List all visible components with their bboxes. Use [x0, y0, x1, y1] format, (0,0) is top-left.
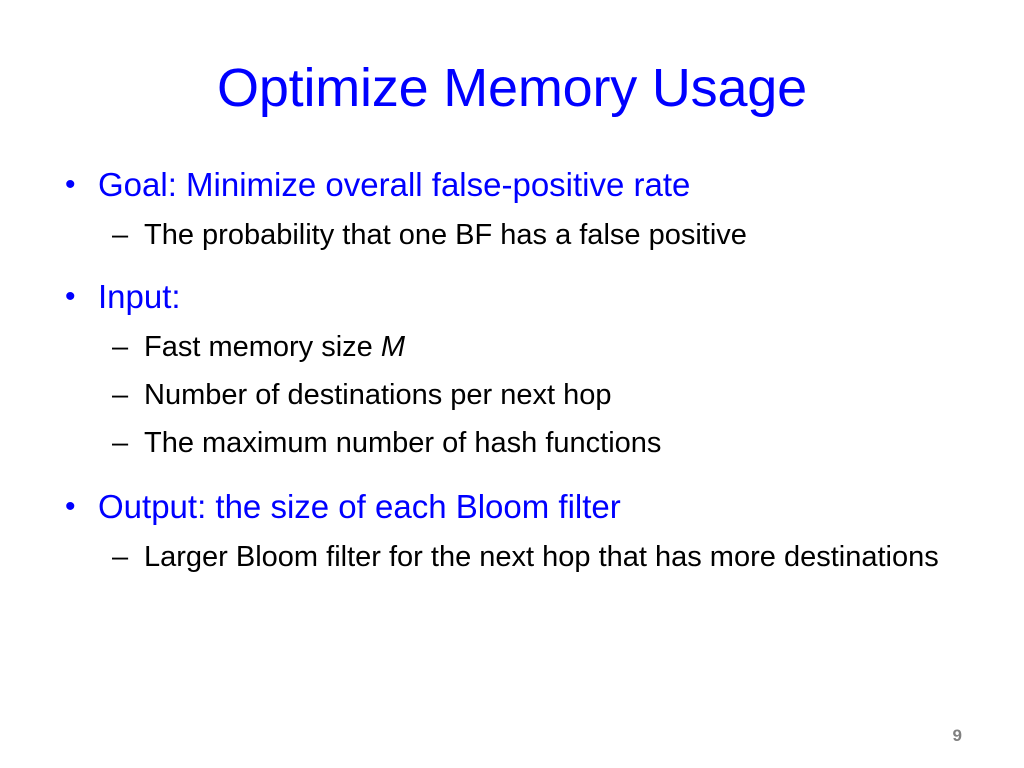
subbullet-fast-memory-size-label: Fast memory size [144, 331, 381, 363]
subbullet-probability: – The probability that one BF has a fals… [60, 213, 970, 257]
slide-body: • Goal: Minimize overall false-positive … [60, 163, 970, 583]
dash-icon: – [112, 373, 138, 417]
bullet-input: • Input: [60, 275, 970, 319]
bullet-goal-label: Goal: Minimize overall false-positive ra… [98, 166, 690, 203]
slide: Optimize Memory Usage • Goal: Minimize o… [0, 0, 1024, 768]
bullet-dot-icon: • [65, 275, 85, 319]
subbullet-larger-bloom-filter: – Larger Bloom filter for the next hop t… [60, 535, 970, 579]
bullet-goal: • Goal: Minimize overall false-positive … [60, 163, 970, 207]
page-title: Optimize Memory Usage [0, 56, 1024, 120]
bullet-dot-icon: • [65, 163, 85, 207]
page-number: 9 [953, 726, 962, 746]
dash-icon: – [112, 325, 138, 369]
subbullet-destinations-per-hop-label: Number of destinations per next hop [144, 379, 612, 411]
spacer [60, 469, 970, 485]
variable-m: M [381, 331, 405, 363]
subbullet-larger-bloom-filter-label: Larger Bloom filter for the next hop tha… [144, 541, 939, 573]
dash-icon: – [112, 213, 138, 257]
subbullet-fast-memory-size: – Fast memory size M [60, 325, 970, 369]
subbullet-max-hash-functions: – The maximum number of hash functions [60, 421, 970, 465]
dash-icon: – [112, 421, 138, 465]
bullet-output-label: Output: the size of each Bloom filter [98, 488, 621, 525]
bullet-dot-icon: • [65, 485, 85, 529]
bullet-output: • Output: the size of each Bloom filter [60, 485, 970, 529]
spacer [60, 261, 970, 275]
subbullet-destinations-per-hop: – Number of destinations per next hop [60, 373, 970, 417]
subbullet-max-hash-functions-label: The maximum number of hash functions [144, 427, 661, 459]
subbullet-probability-label: The probability that one BF has a false … [144, 219, 747, 251]
dash-icon: – [112, 535, 138, 579]
bullet-input-label: Input: [98, 278, 181, 315]
